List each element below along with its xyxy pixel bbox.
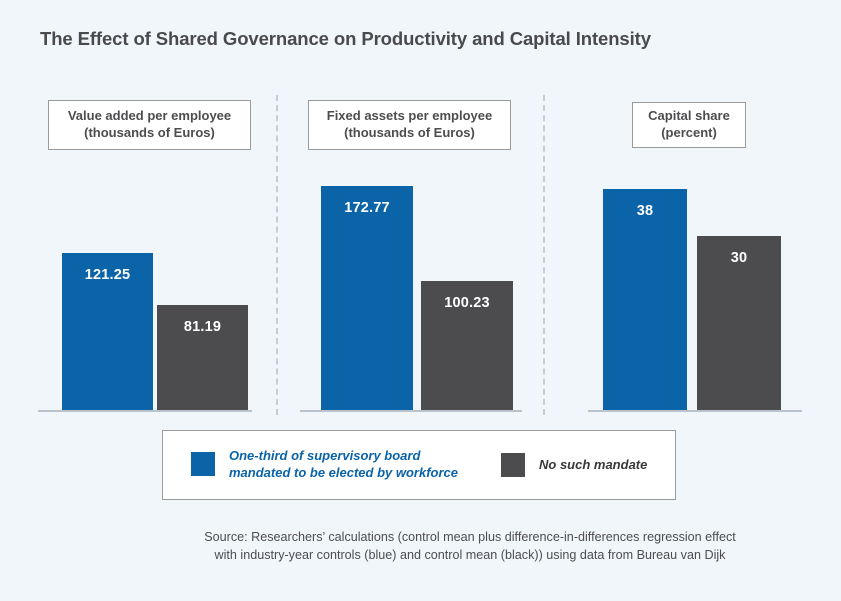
bar-value-label: 30 <box>697 250 781 266</box>
panel-header-capital-share: Capital share (percent) <box>632 102 746 148</box>
bar-value-label: 121.25 <box>62 267 153 283</box>
legend-label-no-mandate: No such mandate <box>539 456 647 473</box>
panel-baseline-fixed-assets <box>300 410 522 412</box>
bar-value-label: 100.23 <box>421 295 513 311</box>
chart-title: The Effect of Shared Governance on Produ… <box>40 28 651 50</box>
legend-label-mandate: One-third of supervisory board mandated … <box>229 447 458 481</box>
panel-header-line2: (thousands of Euros) <box>68 125 231 142</box>
panel-plot-capital-share: 38 30 <box>588 160 802 411</box>
chart-figure: The Effect of Shared Governance on Produ… <box>0 0 841 601</box>
bar-value-label: 38 <box>603 203 687 219</box>
bar-capital-share-no-mandate: 30 <box>697 236 781 411</box>
bar-fixed-assets-mandate: 172.77 <box>321 186 413 411</box>
panel-baseline-capital-share <box>588 410 802 412</box>
bar-value-added-no-mandate: 81.19 <box>157 305 248 411</box>
panel-baseline-value-added <box>38 410 252 412</box>
panel-separator-1 <box>276 95 278 415</box>
panel-header-line1: Value added per employee <box>68 108 231 125</box>
panel-header-line2: (percent) <box>648 125 730 142</box>
legend-swatch-blue-icon <box>191 452 215 476</box>
panel-plot-value-added: 121.25 81.19 <box>38 160 252 411</box>
panel-header-line1: Fixed assets per employee <box>327 108 492 125</box>
panel-header-value-added: Value added per employee (thousands of E… <box>48 100 251 150</box>
panel-header-line2: (thousands of Euros) <box>327 125 492 142</box>
chart-legend: One-third of supervisory board mandated … <box>162 430 676 500</box>
bar-value-label: 172.77 <box>321 200 413 216</box>
legend-entry-mandate: One-third of supervisory board mandated … <box>191 447 458 481</box>
panel-separator-2 <box>543 95 545 415</box>
bar-fixed-assets-no-mandate: 100.23 <box>421 281 513 411</box>
panel-plot-fixed-assets: 172.77 100.23 <box>300 160 522 411</box>
source-note: Source: Researchers’ calculations (contr… <box>120 528 820 565</box>
bar-value-label: 81.19 <box>157 319 248 335</box>
legend-swatch-gray-icon <box>501 453 525 477</box>
legend-entry-no-mandate: No such mandate <box>501 453 647 477</box>
panel-header-fixed-assets: Fixed assets per employee (thousands of … <box>308 100 511 150</box>
bar-value-added-mandate: 121.25 <box>62 253 153 411</box>
panel-header-line1: Capital share <box>648 108 730 125</box>
bar-capital-share-mandate: 38 <box>603 189 687 411</box>
